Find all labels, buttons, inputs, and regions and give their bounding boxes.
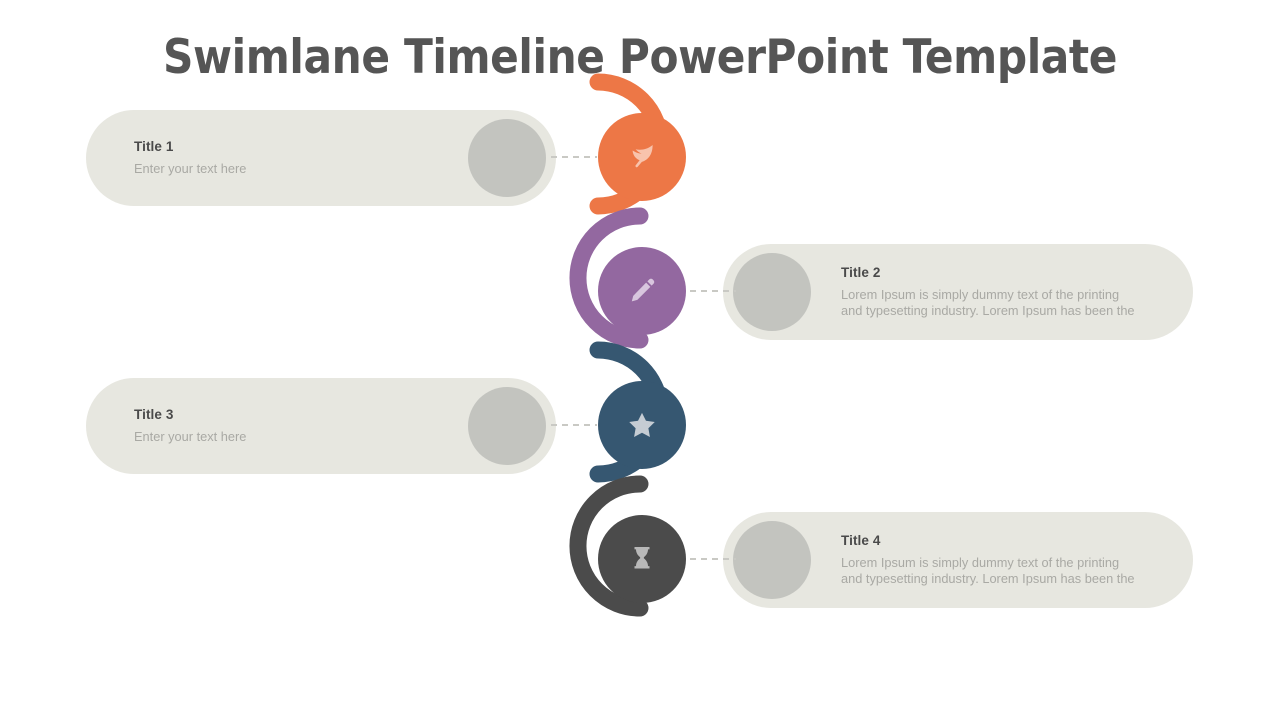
step-card-1[interactable]: Title 1 Enter your text here [86, 110, 556, 206]
step-card-4-body-line: and typesetting industry. Lorem Ipsum ha… [841, 571, 1167, 587]
step-card-2-image-placeholder[interactable] [733, 253, 811, 331]
step-card-1-title: Title 1 [134, 139, 456, 154]
step-card-4[interactable]: Title 4 Lorem Ipsum is simply dummy text… [723, 512, 1193, 608]
step-card-3-body-line: Enter your text here [134, 429, 456, 445]
step-card-3-image-placeholder[interactable] [468, 387, 546, 465]
step-card-3-body: Enter your text here [134, 429, 456, 445]
step-card-4-image-placeholder[interactable] [733, 521, 811, 599]
step-card-1-text: Title 1 Enter your text here [86, 139, 468, 177]
step-card-1-body: Enter your text here [134, 161, 456, 177]
step-card-1-image-placeholder[interactable] [468, 119, 546, 197]
step-card-3-title: Title 3 [134, 407, 456, 422]
step-card-2-title: Title 2 [841, 265, 1167, 280]
leaf-icon [625, 140, 659, 174]
pencil-icon [625, 274, 659, 308]
timeline-node-1[interactable] [598, 113, 686, 201]
connector-step-1 [551, 156, 597, 158]
hourglass-icon [627, 544, 657, 574]
step-card-2[interactable]: Title 2 Lorem Ipsum is simply dummy text… [723, 244, 1193, 340]
connector-step-3 [551, 424, 597, 426]
step-card-2-body: Lorem Ipsum is simply dummy text of the … [841, 287, 1167, 319]
step-card-2-text: Title 2 Lorem Ipsum is simply dummy text… [811, 265, 1193, 319]
step-card-4-text: Title 4 Lorem Ipsum is simply dummy text… [811, 533, 1193, 587]
timeline-node-2[interactable] [598, 247, 686, 335]
timeline-node-3[interactable] [598, 381, 686, 469]
step-card-2-body-line: and typesetting industry. Lorem Ipsum ha… [841, 303, 1167, 319]
step-card-3[interactable]: Title 3 Enter your text here [86, 378, 556, 474]
step-card-2-body-line: Lorem Ipsum is simply dummy text of the … [841, 287, 1167, 303]
step-card-4-body-line: Lorem Ipsum is simply dummy text of the … [841, 555, 1167, 571]
star-icon [625, 408, 659, 442]
timeline-node-4[interactable] [598, 515, 686, 603]
step-card-3-text: Title 3 Enter your text here [86, 407, 468, 445]
step-card-4-title: Title 4 [841, 533, 1167, 548]
slide-canvas: Swimlane Timeline PowerPoint Template Ti… [0, 0, 1280, 720]
connector-step-2 [690, 290, 736, 292]
connector-step-4 [690, 558, 736, 560]
step-card-4-body: Lorem Ipsum is simply dummy text of the … [841, 555, 1167, 587]
step-card-1-body-line: Enter your text here [134, 161, 456, 177]
